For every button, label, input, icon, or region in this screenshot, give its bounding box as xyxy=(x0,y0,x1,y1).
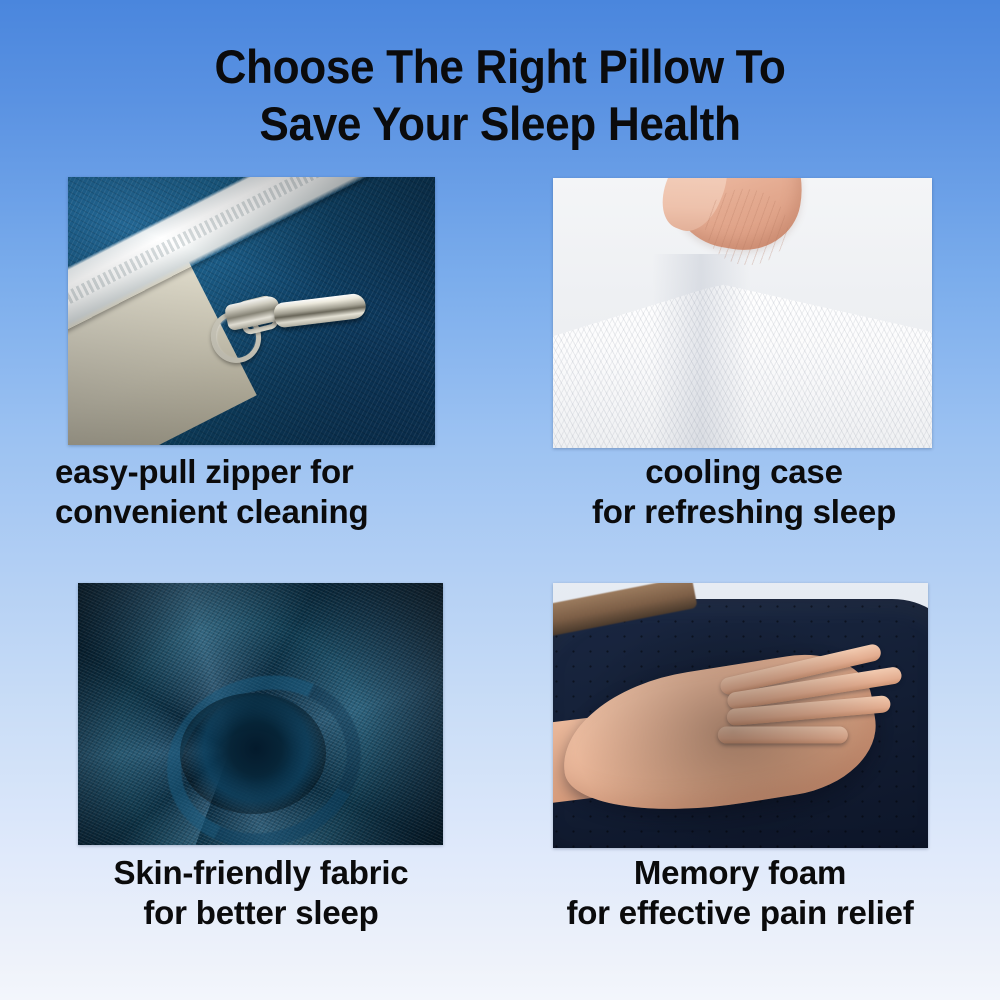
feature-photo-foam xyxy=(553,583,928,848)
feature-caption-cooling: cooling case for refreshing sleep xyxy=(545,452,943,532)
fabric-vignette xyxy=(78,583,443,845)
zipper-shading xyxy=(68,177,435,445)
feature-photo-zipper xyxy=(68,177,435,445)
feature-caption-foam: Memory foam for effective pain relief xyxy=(520,853,960,933)
cooling-peak-shadow xyxy=(652,254,751,448)
product-infographic: Choose The Right Pillow To Save Your Sle… xyxy=(0,0,1000,1000)
foam-press-shadow xyxy=(553,583,928,848)
feature-photo-fabric xyxy=(78,583,443,845)
feature-photo-cooling xyxy=(553,178,932,448)
feature-caption-zipper: easy-pull zipper for convenient cleaning xyxy=(55,452,455,532)
feature-caption-fabric: Skin-friendly fabric for better sleep xyxy=(62,853,460,933)
page-title: Choose The Right Pillow To Save Your Sle… xyxy=(30,38,970,152)
